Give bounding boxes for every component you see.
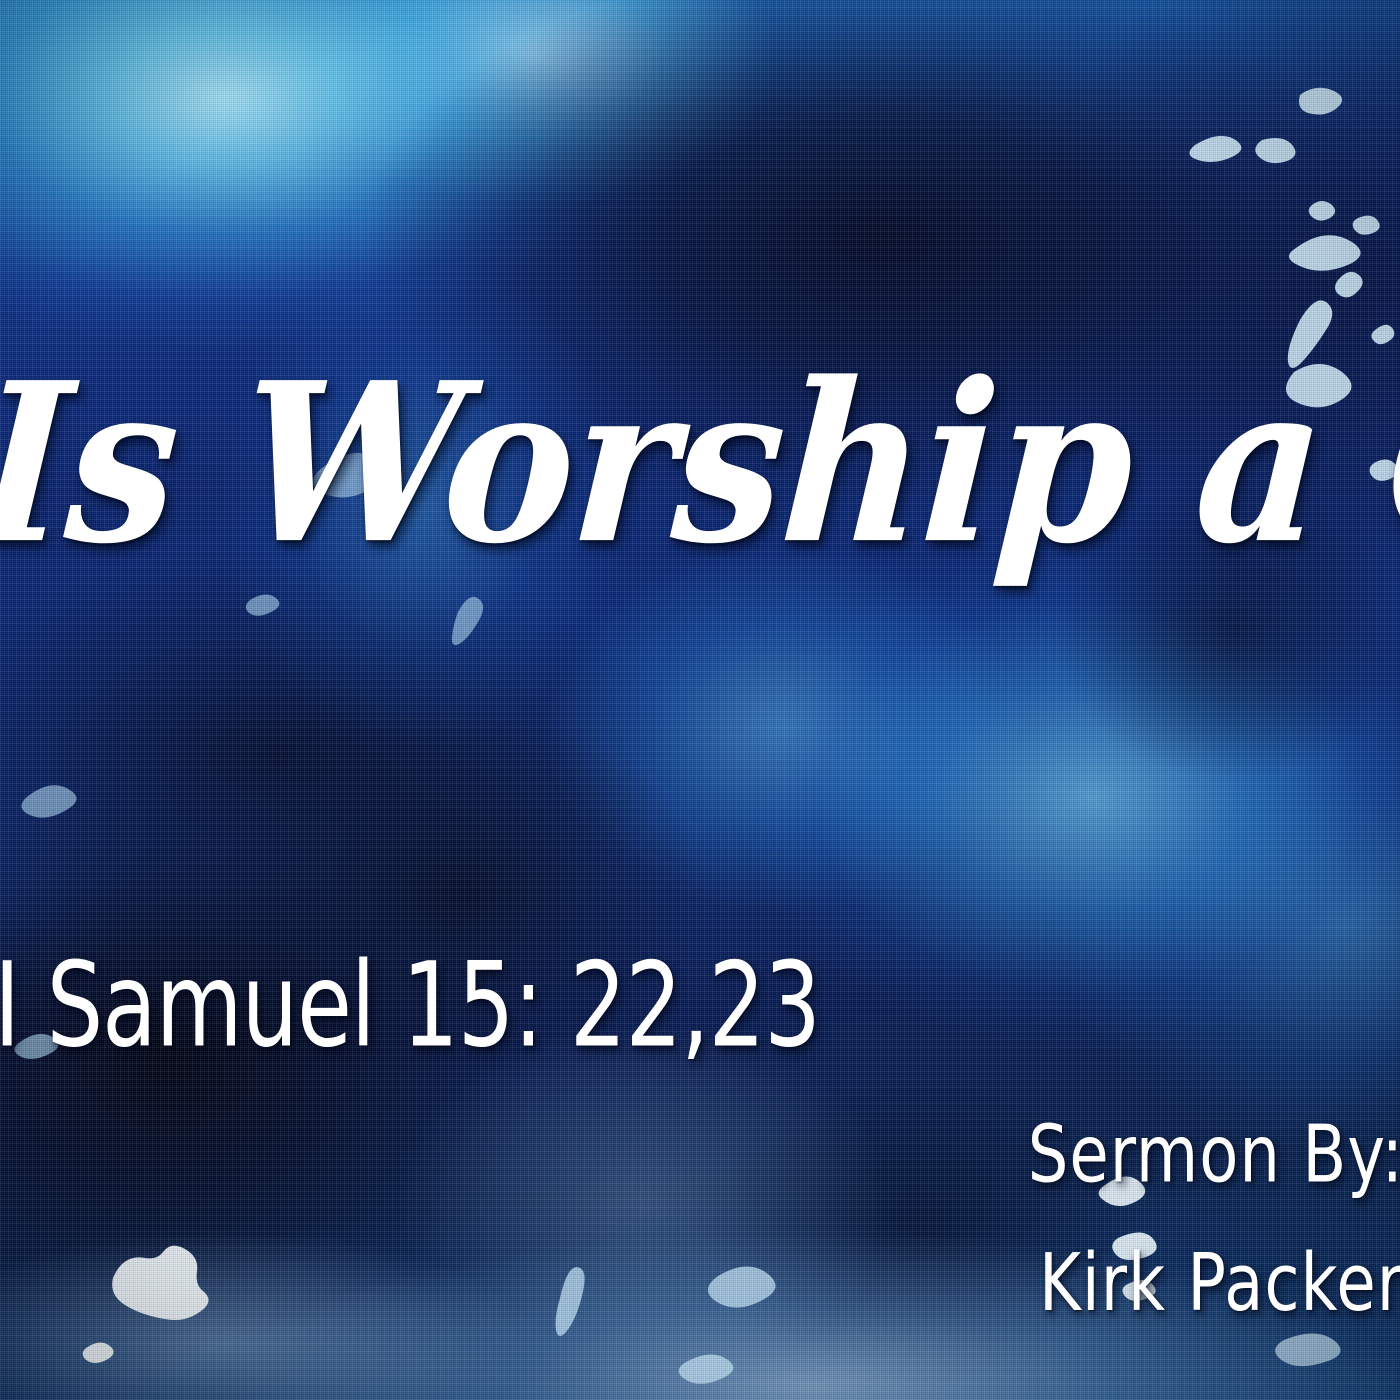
cover-title: Is Worship a Choice?: [0, 354, 1400, 574]
sermon-credit: Sermon By: Kirk Packer: [1028, 1092, 1400, 1349]
speaker-name: Kirk Packer: [1028, 1221, 1400, 1350]
sermon-by-label: Sermon By:: [1028, 1092, 1400, 1221]
scripture-reference: I Samuel 15: 22,23: [0, 948, 820, 1065]
sermon-cover-art: Is Worship a Choice? I Samuel 15: 22,23 …: [0, 0, 1400, 1400]
